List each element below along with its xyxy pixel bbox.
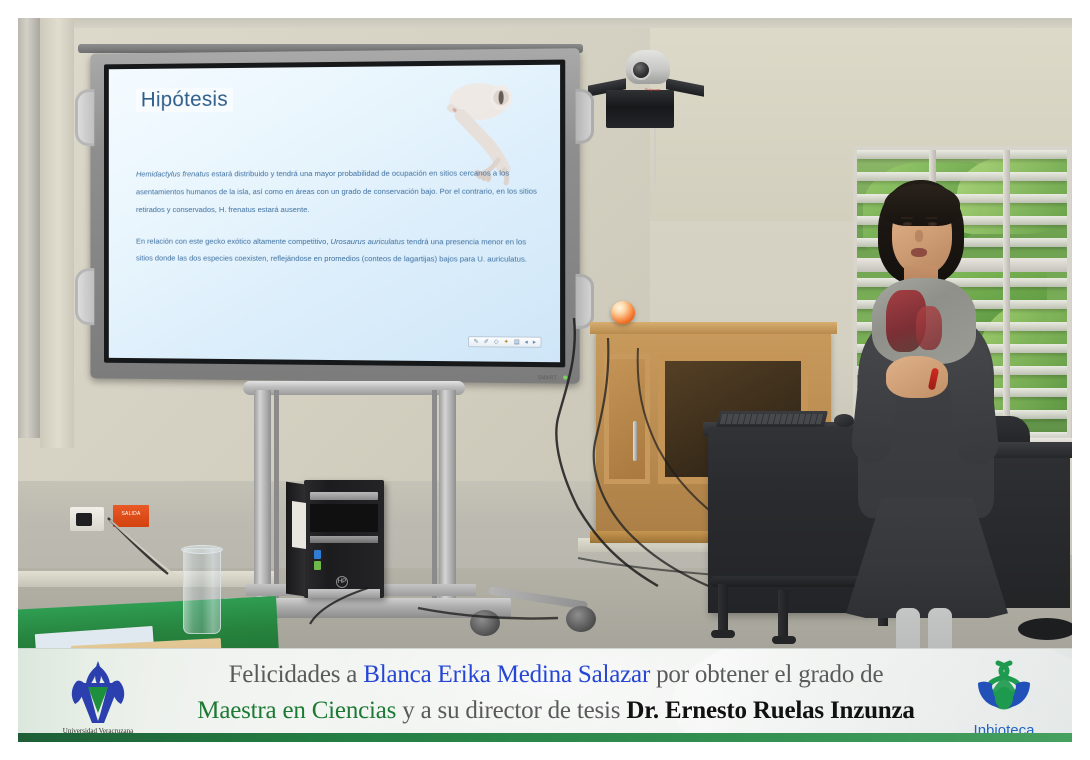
intel-sticker-icon: [314, 550, 321, 559]
wall-sign-label: SALIDA: [113, 511, 149, 517]
ceiling-strip: [18, 18, 1072, 28]
cabinet-handle: [633, 421, 637, 461]
hp-logo-icon: HP: [336, 576, 348, 588]
presenter-person: [824, 178, 1024, 698]
cabinet-top-panel: [590, 322, 837, 334]
caption-text: Felicidades a Blanca Erika Medina Salaza…: [146, 657, 966, 728]
board-stand-post-right: [439, 390, 456, 605]
caption-line-1: Felicidades a Blanca Erika Medina Salaza…: [146, 657, 966, 693]
graduate-name: Blanca Erika Medina Salazar: [363, 661, 650, 688]
slide-paragraph-2: En relación con este gecko exótico altam…: [136, 232, 537, 269]
caption-line1-post: por obtener el grado de: [650, 661, 883, 688]
stand-caster: [470, 610, 500, 636]
wall-sign: SALIDA: [113, 505, 149, 527]
eye-left: [903, 222, 912, 226]
board-brand-label: SMART: [538, 375, 557, 381]
board-handle-right-upper: [576, 89, 595, 144]
prev-icon[interactable]: ◂: [525, 339, 528, 345]
hair-front: [884, 184, 960, 226]
species-name-1: Hemidactylus frenatus: [136, 169, 209, 178]
event-photograph: SALIDA Polycom: [18, 18, 1072, 742]
board-handle-left-lower: [75, 268, 94, 325]
caption-green-bar: [18, 733, 1072, 742]
hp-desktop-tower: HP: [304, 480, 384, 598]
board-handle-left-upper: [75, 89, 94, 146]
mouth: [911, 248, 927, 257]
presentation-slide: Hipótesis Hemidactylus frenatus estará d…: [109, 65, 560, 363]
desk-leg: [778, 590, 788, 638]
pc-optical-drive: [310, 492, 378, 500]
left-column: [18, 18, 40, 438]
pen-icon[interactable]: ✎: [474, 339, 479, 345]
slide-icon[interactable]: ▤: [514, 339, 520, 345]
camera-wall-bracket: [606, 90, 674, 128]
board-stand-rail-right: [432, 390, 437, 602]
slide-paragraph-1: Hemidactylus frenatus estará distribuido…: [136, 164, 537, 218]
eyebrow-right: [926, 217, 938, 219]
pc-front-panel: [310, 504, 378, 532]
camera-lens-icon: [631, 60, 651, 80]
caption-line2-mid: y a su director de tesis: [396, 697, 626, 724]
board-stand-post-left: [254, 390, 271, 605]
universidad-veracruzana-logo: Universidad Veracruzana: [44, 659, 152, 737]
inbioteca-logo: Inbioteca: [952, 657, 1056, 739]
water-glass: [183, 548, 221, 634]
stand-caster: [566, 606, 596, 632]
desk-foot: [772, 636, 796, 644]
clasped-hands: [886, 356, 948, 398]
uv-crest-icon: [44, 659, 152, 725]
caption-line1-pre: Felicidades a: [229, 661, 364, 688]
highlighter-icon[interactable]: ✐: [484, 339, 489, 345]
next-icon[interactable]: ▸: [533, 339, 536, 345]
pointer-icon[interactable]: ✦: [504, 339, 509, 345]
board-stand-rail-left: [274, 390, 279, 602]
nose: [915, 230, 923, 242]
slide-paragraph-2a: En relación con este gecko exótico altam…: [136, 236, 331, 245]
pc-base: [308, 589, 380, 598]
desk-foot: [711, 630, 735, 638]
caption-line-2: Maestra en Ciencias y a su director de t…: [146, 693, 966, 729]
windows-sticker-icon: [314, 561, 321, 570]
eraser-icon[interactable]: ◇: [494, 339, 499, 345]
screenshot-root: SALIDA Polycom: [0, 0, 1090, 760]
species-name-2: Urosaurus auriculatus: [331, 237, 405, 246]
power-plug: [76, 513, 92, 526]
left-wall-panel: [40, 18, 74, 448]
desk-leg: [718, 584, 728, 632]
glass-rim: [181, 545, 223, 554]
interactive-whiteboard: Hipótesis Hemidactylus frenatus estará d…: [90, 48, 579, 384]
presentation-toolbar[interactable]: ✎ ✐ ◇ ✦ ▤ ◂ ▸: [468, 336, 542, 348]
slide-title: Hipótesis: [136, 88, 233, 113]
eyebrow-left: [901, 217, 913, 219]
caption-banner: Universidad Veracruzana Felicidades a Bl…: [18, 648, 1072, 742]
board-handle-right-lower: [576, 274, 595, 329]
cabinet-door-left: [604, 354, 650, 484]
eye-right: [928, 222, 937, 226]
orange-ball-decoration: [611, 301, 635, 324]
keyboard-keys: [720, 414, 824, 424]
degree-name: Maestra en Ciencias: [197, 697, 396, 724]
scarf-pattern: [916, 306, 942, 350]
inbioteca-mark-icon: [952, 657, 1056, 719]
board-status-led: [563, 375, 567, 379]
board-bezel: Hipótesis Hemidactylus frenatus estará d…: [104, 60, 565, 368]
computer-keyboard[interactable]: [716, 411, 828, 427]
pc-front-trim: [310, 536, 378, 543]
slide-body: Hemidactylus frenatus estará distribuido…: [136, 164, 537, 283]
camera-brand-label: Polycom: [645, 87, 660, 92]
advisor-name: Dr. Ernesto Ruelas Inzunza: [626, 697, 914, 724]
pc-spec-label: [292, 501, 306, 549]
camera-cable: [654, 128, 656, 186]
baseboard-left: [18, 571, 278, 587]
furniture-shadow: [1018, 618, 1072, 640]
